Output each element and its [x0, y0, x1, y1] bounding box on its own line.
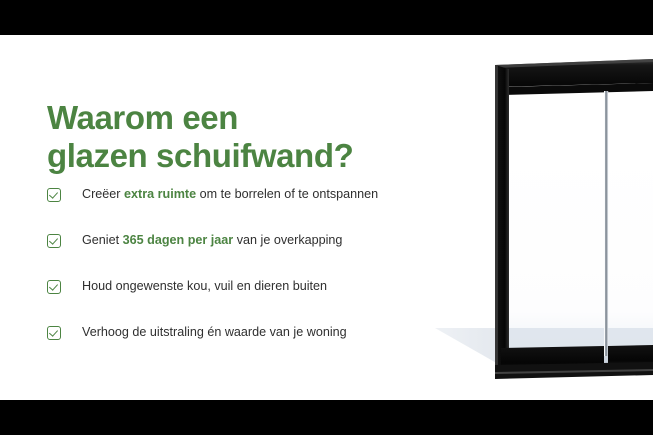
text-before: Verhoog de uitstraling én waarde van je … [82, 325, 347, 339]
check-square-icon [47, 234, 61, 248]
glass-pane-right [508, 148, 653, 353]
check-square-icon [47, 188, 61, 202]
list-item: Creëer extra ruimte om te borrelen of te… [47, 187, 467, 233]
slide-canvas: Waarom een glazen schuifwand? Creëer ext… [0, 0, 653, 435]
page-title: Waarom een glazen schuifwand? [47, 99, 447, 175]
text-after: van je overkapping [233, 233, 342, 247]
slide-content-area: Waarom een glazen schuifwand? Creëer ext… [0, 35, 653, 400]
frame-left-post-edge [495, 65, 498, 372]
list-item-label: Creëer extra ruimte om te borrelen of te… [82, 187, 378, 202]
text-after: om te borrelen of te ontspannen [196, 187, 378, 201]
text-highlight: 365 dagen per jaar [123, 233, 234, 247]
list-item-label: Verhoog de uitstraling én waarde van je … [82, 325, 347, 340]
list-item-label: Geniet 365 dagen per jaar van je overkap… [82, 233, 342, 248]
list-item: Verhoog de uitstraling én waarde van je … [47, 325, 467, 371]
list-item: Houd ongewenste kou, vuil en dieren buit… [47, 279, 467, 325]
benefits-list: Creëer extra ruimte om te borrelen of te… [47, 187, 467, 371]
check-square-icon [47, 280, 61, 294]
glass-mullion-highlight [604, 91, 605, 356]
check-square-icon [47, 326, 61, 340]
letterbox-bar-top [0, 0, 653, 35]
list-item: Geniet 365 dagen per jaar van je overkap… [47, 233, 467, 279]
text-before: Houd ongewenste kou, vuil en dieren buit… [82, 279, 327, 293]
text-before: Creëer [82, 187, 124, 201]
list-item-label: Houd ongewenste kou, vuil en dieren buit… [82, 279, 327, 294]
letterbox-bar-bottom [0, 400, 653, 435]
text-highlight: extra ruimte [124, 187, 196, 201]
text-before: Geniet [82, 233, 123, 247]
